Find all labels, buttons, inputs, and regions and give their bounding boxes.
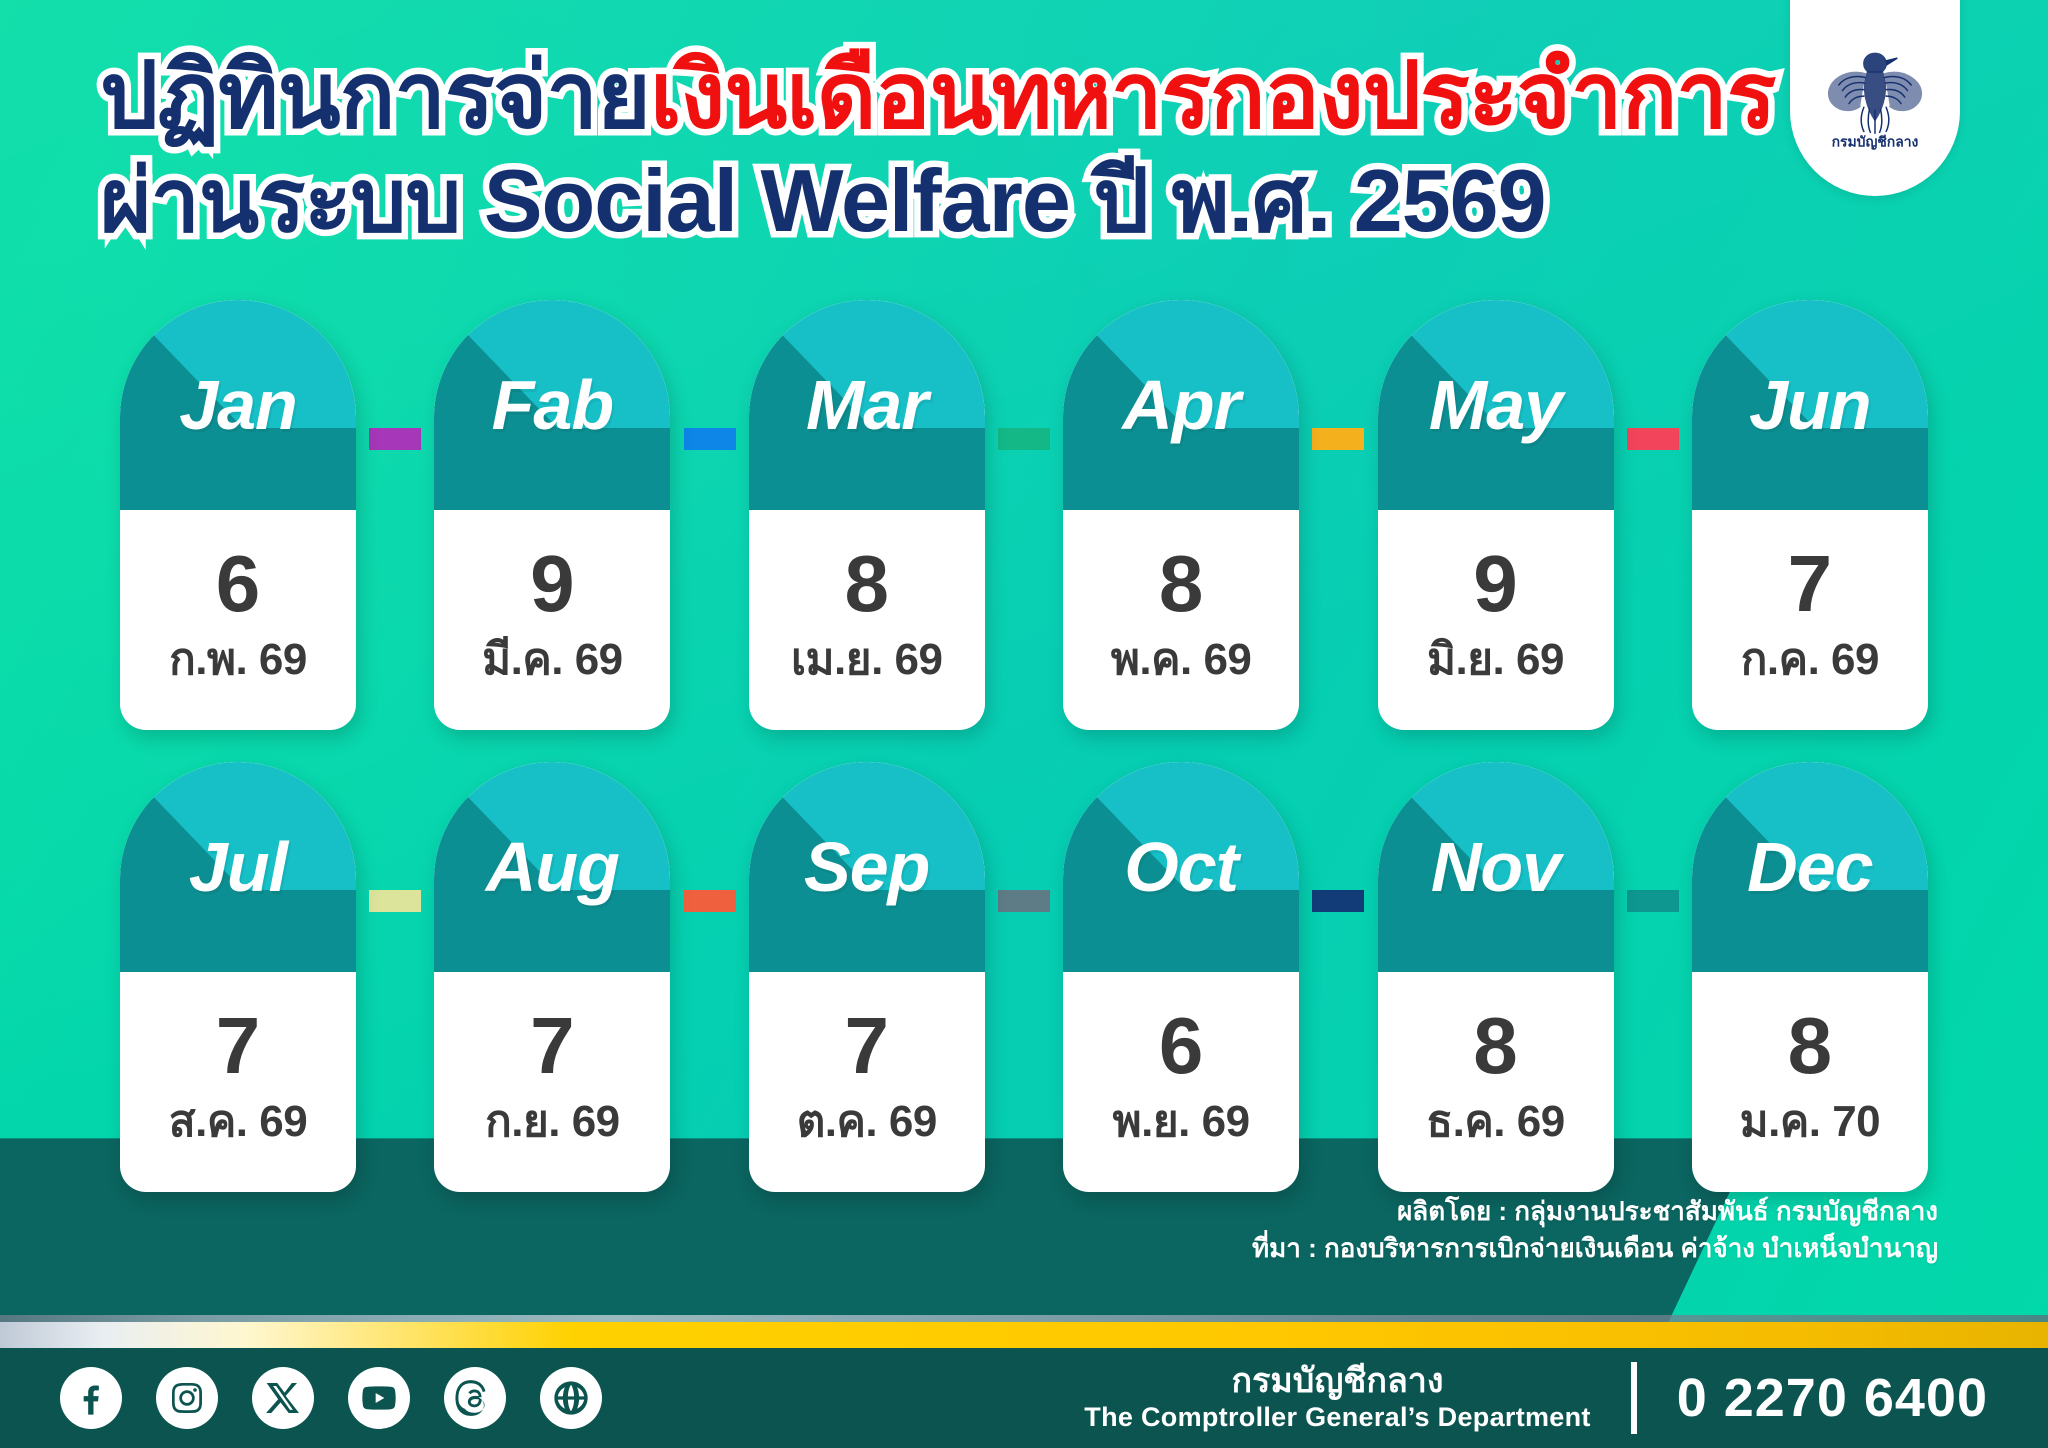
card-month-label: Mar [749,300,985,510]
header: ปฏิทินการจ่ายเงินเดือนทหารกองประจำการ ผ่… [0,0,2048,247]
calendar-card-oct[interactable]: Oct 6 พ.ย. 69 [1063,762,1299,1192]
connector-2-5 [1627,890,1679,912]
credits-source: ที่มา : กองบริหารการเบิกจ่ายเงินเดือน ค่… [1252,1230,1938,1268]
card-day-number: 8 [1159,546,1204,622]
card-day-number: 7 [216,1008,261,1084]
card-day-number: 8 [845,546,890,622]
card-thai-month: ธ.ค. 69 [1426,1086,1564,1156]
calendar-card-sep[interactable]: Sep 7 ต.ค. 69 [749,762,985,1192]
card-day-number: 9 [1473,546,1518,622]
card-month-label: Apr [1063,300,1299,510]
gold-divider-bar [0,1322,2048,1348]
connector-1-2 [684,428,736,450]
connector-2-4 [1312,890,1364,912]
card-thai-month: ก.ค. 69 [1741,624,1879,694]
page-title-line-1: ปฏิทินการจ่ายเงินเดือนทหารกองประจำการ [0,48,2048,145]
social-links [60,1367,602,1429]
garuda-emblem-icon: กรมบัญชีกลาง [1819,46,1931,150]
card-thai-month: มี.ค. 69 [482,624,623,694]
card-thai-month: ต.ค. 69 [797,1086,937,1156]
connector-1-5 [1627,428,1679,450]
title-part-red: เงินเดือนทหารกองประจำการ [650,45,1775,147]
calendar-card-fab[interactable]: Fab 9 มี.ค. 69 [434,300,670,730]
youtube-icon[interactable] [348,1367,410,1429]
card-month-label: Dec [1692,762,1928,972]
page-title-line-2: ผ่านระบบ Social Welfare ปี พ.ศ. 2569 [0,155,2048,247]
organization-name-en: The Comptroller General’s Department [1084,1401,1590,1433]
calendar-row-1: Jan 6 ก.พ. 69 Fab 9 มี.ค. 69 [120,300,1928,730]
calendar-card-jun[interactable]: Jun 7 ก.ค. 69 [1692,300,1928,730]
calendar-card-may[interactable]: May 9 มิ.ย. 69 [1378,300,1614,730]
card-thai-month: มิ.ย. 69 [1427,624,1564,694]
card-month-label: Jul [120,762,356,972]
card-day-number: 7 [845,1008,890,1084]
card-day-number: 6 [1159,1008,1204,1084]
agency-logo-banner: กรมบัญชีกลาง [1790,0,1960,196]
card-thai-month: เม.ย. 69 [791,624,942,694]
calendar-card-nov[interactable]: Nov 8 ธ.ค. 69 [1378,762,1614,1192]
title-part-navy: ปฏิทินการจ่าย [100,45,650,147]
contact-phone[interactable]: 0 2270 6400 [1677,1367,1988,1429]
website-globe-icon[interactable] [540,1367,602,1429]
connector-2-2 [684,890,736,912]
facebook-icon[interactable] [60,1367,122,1429]
card-month-label: Nov [1378,762,1614,972]
card-month-label: May [1378,300,1614,510]
calendar-row-2: Jul 7 ส.ค. 69 Aug 7 ก.ย. 69 [120,762,1928,1192]
card-thai-month: พ.ย. 69 [1113,1086,1250,1156]
x-twitter-icon[interactable] [252,1367,314,1429]
card-thai-month: ก.พ. 69 [169,624,307,694]
card-day-number: 8 [1788,1008,1833,1084]
footer-contact: กรมบัญชีกลาง The Comptroller General’s D… [1084,1362,1988,1434]
footer-divider [1631,1362,1637,1434]
calendar-card-apr[interactable]: Apr 8 พ.ค. 69 [1063,300,1299,730]
gold-bar-highlight [0,1315,2048,1322]
card-thai-month: ม.ค. 70 [1740,1086,1881,1156]
card-thai-month: ก.ย. 69 [485,1086,620,1156]
card-thai-month: พ.ค. 69 [1111,624,1252,694]
calendar-card-jan[interactable]: Jan 6 ก.พ. 69 [120,300,356,730]
calendar-grid: Jan 6 ก.พ. 69 Fab 9 มี.ค. 69 [0,300,2048,1192]
card-month-label: Jun [1692,300,1928,510]
footer-bar: กรมบัญชีกลาง The Comptroller General’s D… [0,1348,2048,1448]
card-month-label: Jan [120,300,356,510]
logo-caption-text: กรมบัญชีกลาง [1832,133,1919,150]
connector-2-1 [369,890,421,912]
connector-1-1 [369,428,421,450]
title-subtitle: ผ่านระบบ Social Welfare ปี พ.ศ. 2569 [100,151,1546,250]
credits-block: ผลิตโดย : กลุ่มงานประชาสัมพันธ์ กรมบัญชี… [1252,1193,1938,1268]
calendar-card-mar[interactable]: Mar 8 เม.ย. 69 [749,300,985,730]
connector-2-3 [998,890,1050,912]
card-thai-month: ส.ค. 69 [169,1086,307,1156]
connector-1-4 [1312,428,1364,450]
card-month-label: Fab [434,300,670,510]
card-day-number: 6 [216,546,261,622]
card-month-label: Sep [749,762,985,972]
connector-1-3 [998,428,1050,450]
credits-producer: ผลิตโดย : กลุ่มงานประชาสัมพันธ์ กรมบัญชี… [1252,1193,1938,1231]
calendar-card-jul[interactable]: Jul 7 ส.ค. 69 [120,762,356,1192]
card-month-label: Aug [434,762,670,972]
card-day-number: 8 [1473,1008,1518,1084]
card-day-number: 7 [1788,546,1833,622]
organization-name: กรมบัญชีกลาง The Comptroller General’s D… [1084,1363,1590,1433]
calendar-card-dec[interactable]: Dec 8 ม.ค. 70 [1692,762,1928,1192]
instagram-icon[interactable] [156,1367,218,1429]
calendar-card-aug[interactable]: Aug 7 ก.ย. 69 [434,762,670,1192]
card-day-number: 9 [530,546,575,622]
threads-icon[interactable] [444,1367,506,1429]
organization-name-th: กรมบัญชีกลาง [1084,1363,1590,1400]
card-day-number: 7 [530,1008,575,1084]
card-month-label: Oct [1063,762,1299,972]
